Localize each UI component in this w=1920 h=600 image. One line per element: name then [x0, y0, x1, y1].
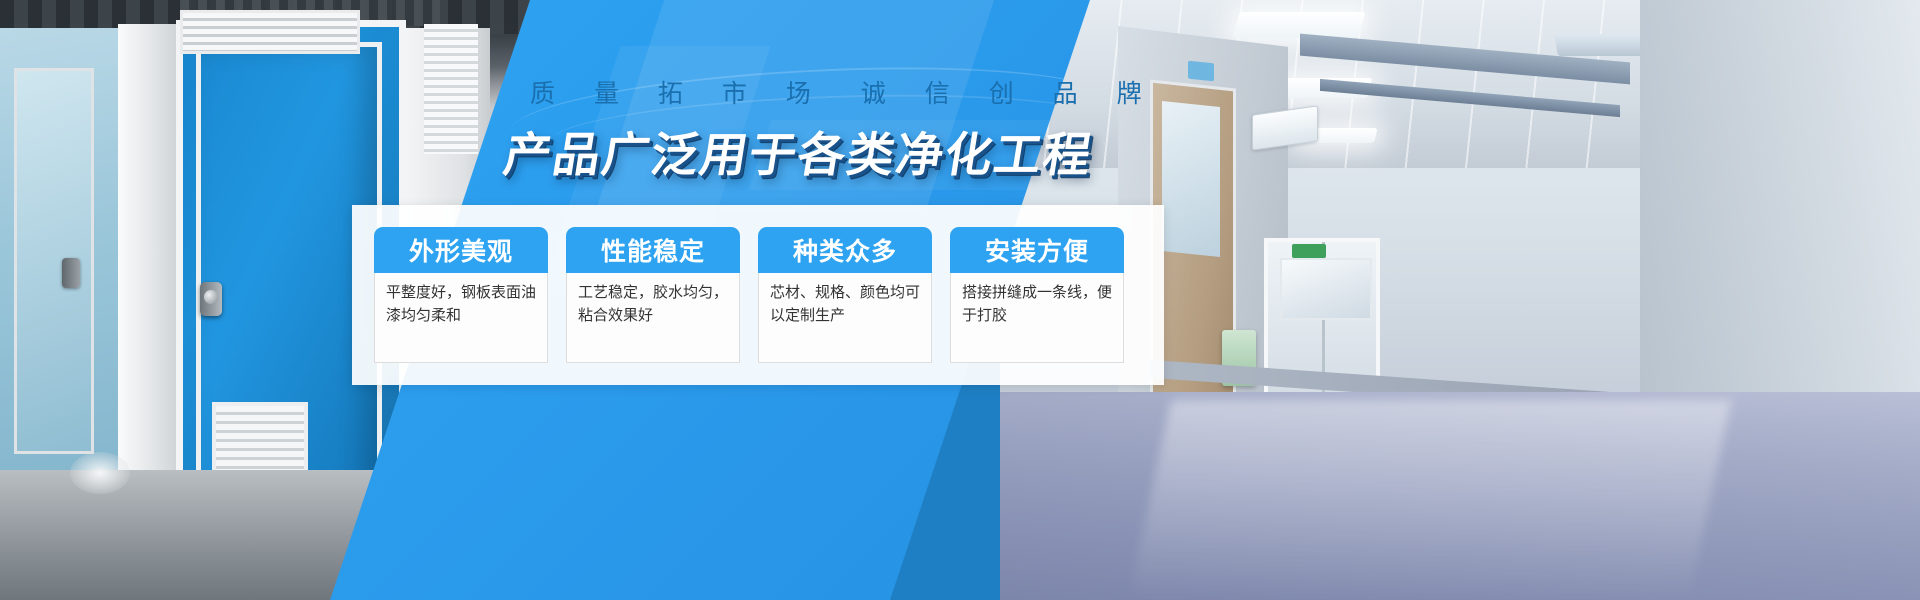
feature-card[interactable]: 安装方便 搭接拼缝成一条线，便于打胶 — [950, 227, 1124, 363]
feature-card-title: 安装方便 — [950, 227, 1124, 273]
feature-card[interactable]: 种类众多 芯材、规格、颜色均可以定制生产 — [758, 227, 932, 363]
feature-card-body: 工艺稳定，胶水均匀，粘合效果好 — [566, 273, 740, 363]
feature-card-title: 外形美观 — [374, 227, 548, 273]
banner-subtitle-part2: 诚 信 创 品 牌 — [861, 80, 1158, 108]
feature-card-body: 平整度好，钢板表面油漆均匀柔和 — [374, 273, 548, 363]
feature-card[interactable]: 外形美观 平整度好，钢板表面油漆均匀柔和 — [374, 227, 548, 363]
banner-subtitle: 质 量 拓 市 场诚 信 创 品 牌 — [530, 74, 1158, 110]
banner-subtitle-part1: 质 量 拓 市 场 — [530, 80, 827, 108]
feature-card[interactable]: 性能稳定 工艺稳定，胶水均匀，粘合效果好 — [566, 227, 740, 363]
feature-card-list: 外形美观 平整度好，钢板表面油漆均匀柔和 性能稳定 工艺稳定，胶水均匀，粘合效果… — [352, 205, 1164, 385]
feature-card-title: 性能稳定 — [566, 227, 740, 273]
feature-card-panel: 外形美观 平整度好，钢板表面油漆均匀柔和 性能稳定 工艺稳定，胶水均匀，粘合效果… — [352, 205, 1164, 385]
feature-card-body: 芯材、规格、颜色均可以定制生产 — [758, 273, 932, 363]
banner-headline: 产品广泛用于各类净化工程 — [500, 116, 1099, 185]
feature-card-body: 搭接拼缝成一条线，便于打胶 — [950, 273, 1124, 363]
promo-banner: 质 量 拓 市 场诚 信 创 品 牌 产品广泛用于各类净化工程 外形美观 平整度… — [0, 0, 1920, 600]
feature-card-title: 种类众多 — [758, 227, 932, 273]
